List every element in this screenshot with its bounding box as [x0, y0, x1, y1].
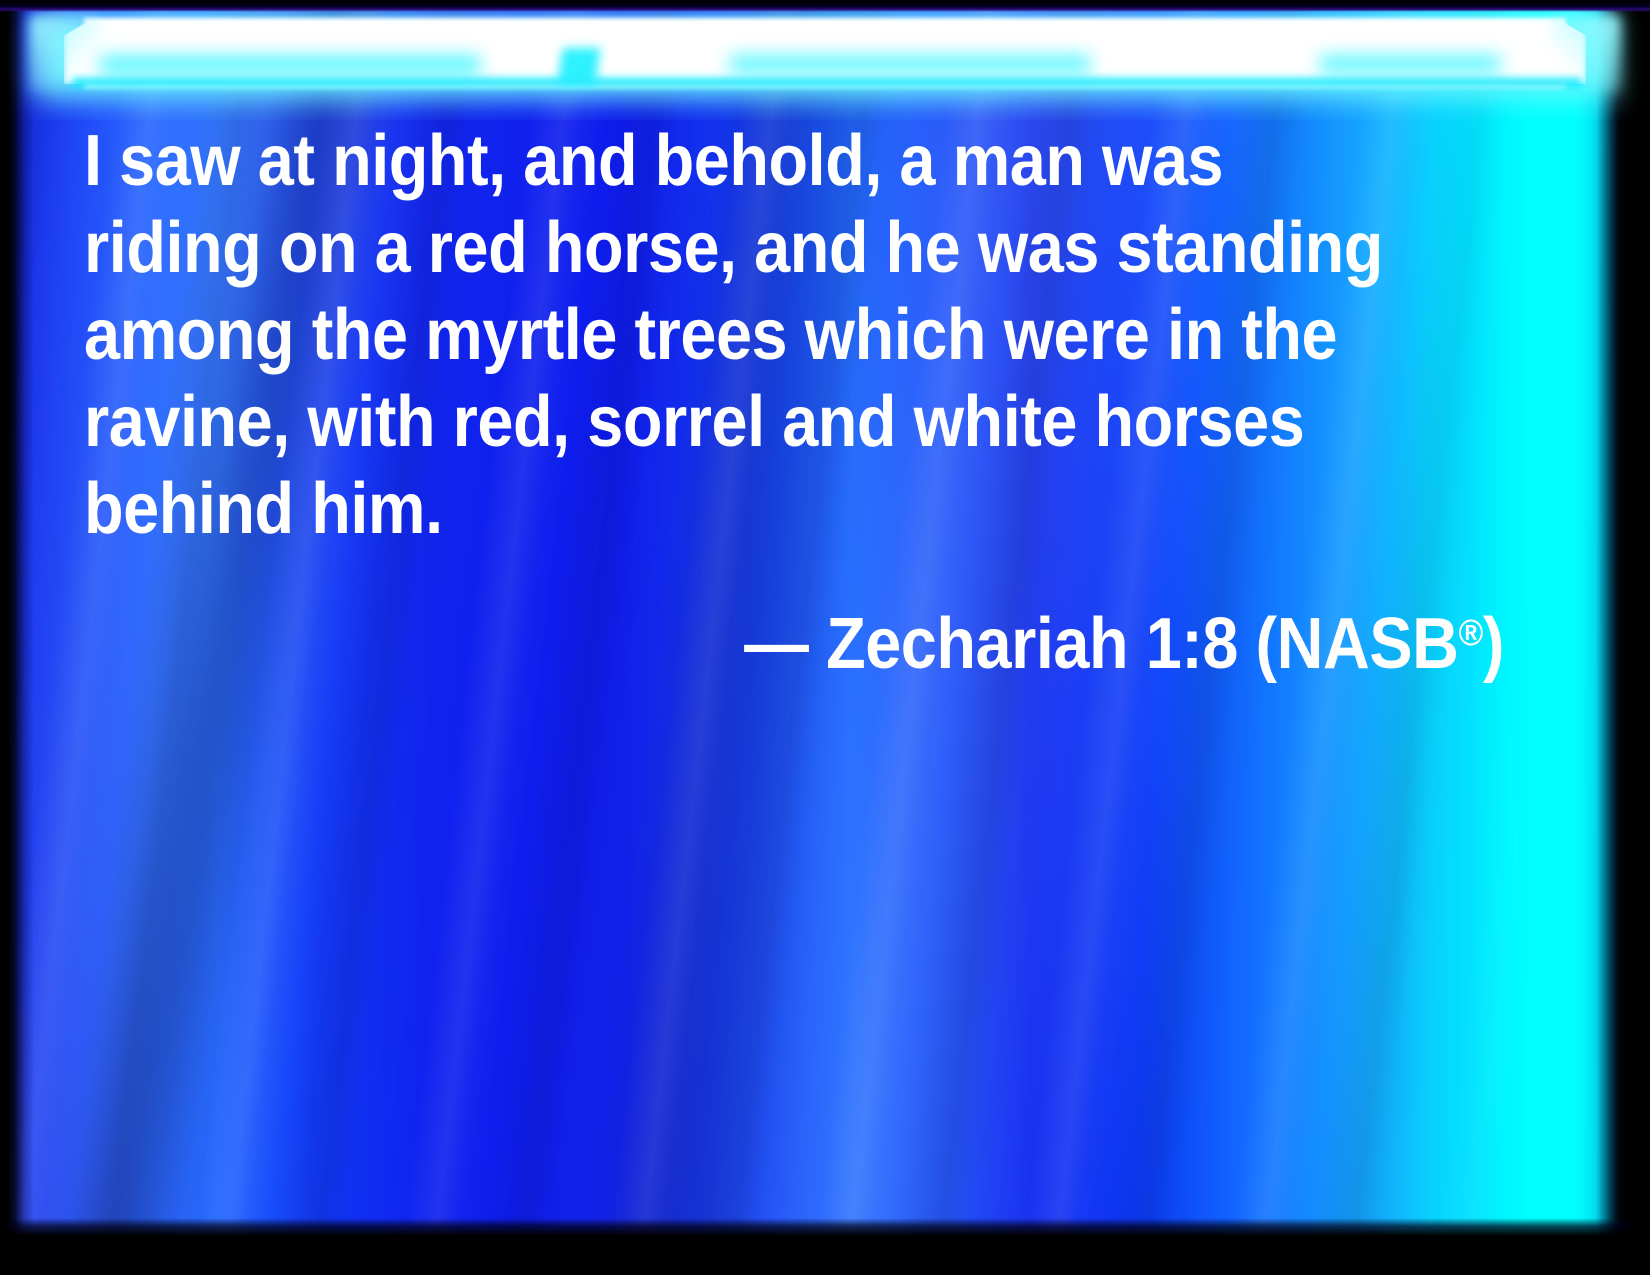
registered-trademark-icon: ®: [1458, 611, 1482, 653]
verse-attribution: — Zechariah 1:8 (NASB®): [226, 589, 1504, 688]
verse-slide: I saw at night, and behold, a man was ri…: [0, 0, 1650, 1275]
background-left-edge-shadow: [8, 10, 34, 1236]
attribution-suffix: ): [1483, 604, 1504, 684]
verse-line-2: riding on a red horse, and he was standi…: [84, 205, 1362, 292]
attribution-prefix: — Zechariah 1:8 (NASB: [744, 604, 1458, 684]
verse-line-5: behind him.: [84, 466, 1362, 553]
verse-text-block: I saw at night, and behold, a man was ri…: [84, 118, 1504, 688]
background-right-edge-shadow: [1596, 10, 1630, 1236]
verse-line-3: among the myrtle trees which were in the: [84, 292, 1362, 379]
background-bottom-edge-shadow: [8, 1218, 1630, 1236]
verse-line-4: ravine, with red, sorrel and white horse…: [84, 379, 1362, 466]
verse-line-1: I saw at night, and behold, a man was: [84, 118, 1362, 205]
